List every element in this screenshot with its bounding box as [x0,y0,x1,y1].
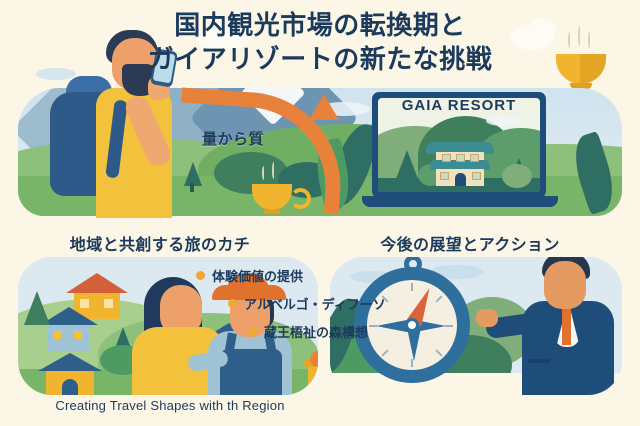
bullet-list: 体験価値の提供 アルベルゴ・ディフーソ 蔵王梧祉の森構想 [196,266,456,350]
bullet-dot-icon [248,327,257,336]
list-item: アルベルゴ・ディフーソ [228,294,456,313]
bullet-dot-icon [196,271,205,280]
bullet-dot-icon [228,299,237,308]
footer-caption: Creating Travel Shapes with th Region [20,398,320,413]
list-item: 蔵王梧祉の森構想 [248,322,456,341]
steam-icon [262,166,267,180]
laptop-screen-title: GAIA RESORT [372,97,546,114]
list-item: 体験価値の提供 [196,266,456,285]
businessman-icon [466,257,622,395]
title-line-2: ガイアリゾートの新たな挑戦 [0,42,640,76]
arrow-label: 量から質 [202,128,264,149]
section-heading-left: 地域と共創する旅のカチ [0,231,320,255]
bullet-label: アルベルゴ・ディフーソ [244,294,386,313]
steam-icon [272,162,277,179]
page-title: 国内観光市場の転換期と ガイアリゾートの新たな挑戦 [0,8,640,77]
bullet-label: 体験価値の提供 [212,266,303,285]
fruit-basket-icon [308,363,318,395]
title-line-1: 国内観光市場の転換期と [174,10,466,40]
laptop-icon: GAIA RESORT [372,92,550,218]
bullet-label: 蔵王梧祉の森構想 [264,322,368,341]
resort-building-icon [432,142,488,186]
section-heading-right: 今後の展望とアクション [320,231,620,255]
poster-canvas: 量から質 [0,0,640,426]
